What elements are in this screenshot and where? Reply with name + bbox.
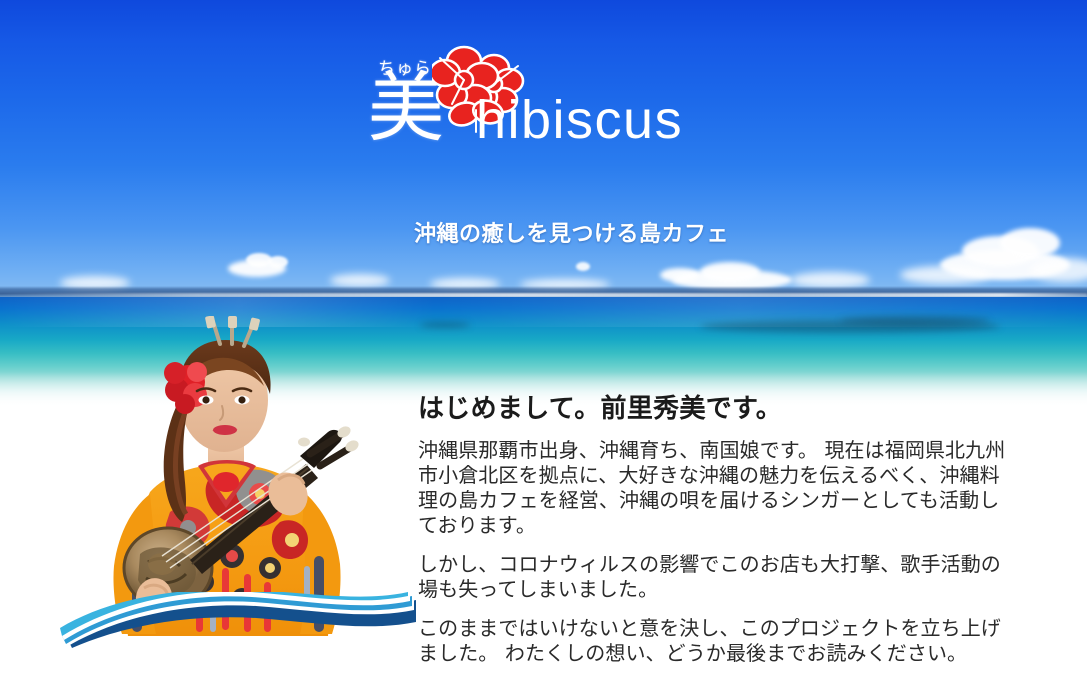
site-logo[interactable]: ちゅら 美 xyxy=(360,48,740,168)
cloud-icon xyxy=(576,262,590,271)
intro-paragraph: 沖縄県那覇市出身、沖縄育ち、南国娘です。 現在は福岡県北九州市小倉北区を拠点に、… xyxy=(418,438,1018,538)
site-tagline: 沖縄の癒しを見つける島カフェ xyxy=(414,216,729,248)
page-root: ちゅら 美 xyxy=(0,0,1087,699)
cloud-icon xyxy=(1030,258,1087,282)
cloud-icon xyxy=(700,262,760,282)
intro-text-column: はじめまして。前里秀美です。 沖縄県那覇市出身、沖縄育ち、南国娘です。 現在は福… xyxy=(418,392,1018,666)
reef-patch xyxy=(840,316,990,325)
intro-paragraph: しかし、コロナウィルスの影響でこのお店も大打撃、歌手活動の場も失ってしまいました… xyxy=(418,552,1018,602)
intro-paragraph: このままではいけないと意を決し、このプロジェクトを立ち上げました。 わたくしの想… xyxy=(418,616,1018,666)
page-title: はじめまして。前里秀美です。 xyxy=(418,392,1018,426)
cloud-icon xyxy=(268,256,288,268)
logo-wordmark: hibiscus xyxy=(476,90,683,150)
cloud-icon xyxy=(1000,228,1060,258)
reef-patch xyxy=(420,322,470,328)
blue-wave-divider-icon xyxy=(60,592,420,654)
cloud-icon xyxy=(900,266,990,284)
